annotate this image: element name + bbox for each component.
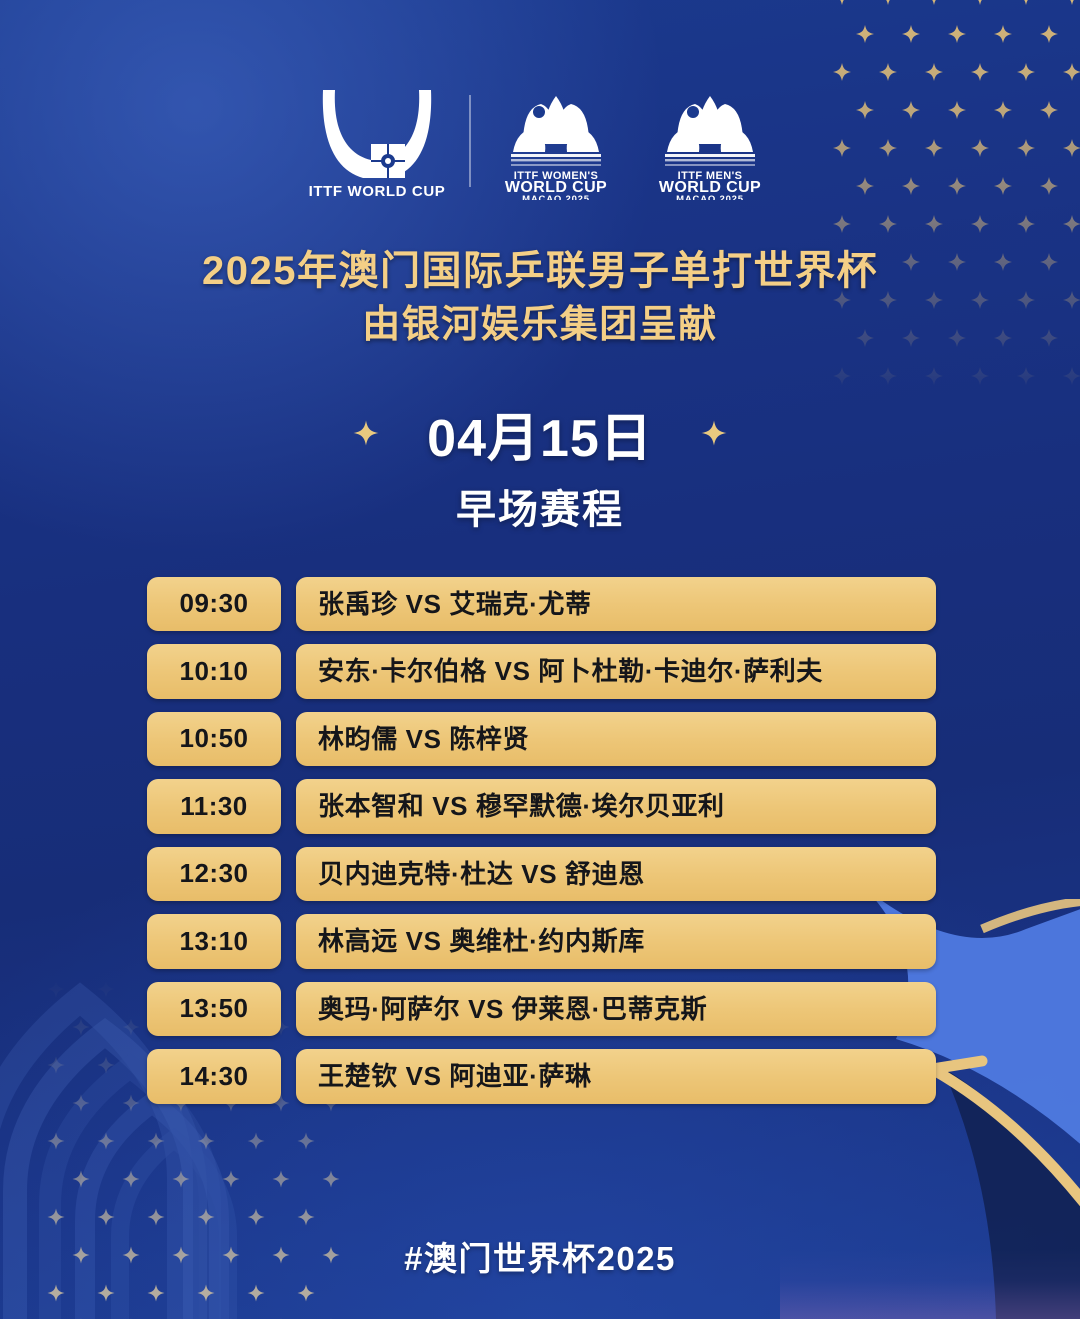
- table-row[interactable]: 13:10 林高远 VS 奥维杜·约内斯库: [147, 914, 936, 969]
- schedule-list: 09:30 张禹珍 VS 艾瑞克·尤蒂 10:10 安东·卡尔伯格 VS 阿卜杜…: [0, 577, 1080, 1104]
- ittf-mens-world-cup-logo: ITTF MEN'S WORLD CUP MACAO 2025: [649, 82, 771, 200]
- match-name: 张禹珍 VS 艾瑞克·尤蒂: [318, 588, 592, 621]
- match-time-pill: 12:30: [147, 847, 281, 902]
- table-row[interactable]: 13:50 奥玛·阿萨尔 VS 伊莱恩·巴蒂克斯: [147, 982, 936, 1037]
- match-name: 张本智和 VS 穆罕默德·埃尔贝亚利: [318, 790, 725, 823]
- match-time: 12:30: [180, 858, 249, 889]
- match-time: 10:10: [180, 656, 249, 687]
- title-line-1: 2025年澳门国际乒联男子单打世界杯: [0, 244, 1080, 299]
- match-name-pill: 贝内迪克特·杜达 VS 舒迪恩: [296, 847, 936, 902]
- poster-content: ITTF WORLD CUP ITTF WOMEN'S: [0, 0, 1080, 1280]
- match-time: 13:10: [180, 926, 249, 957]
- match-name-pill: 张本智和 VS 穆罕默德·埃尔贝亚利: [296, 779, 936, 834]
- table-row[interactable]: 10:10 安东·卡尔伯格 VS 阿卜杜勒·卡迪尔·萨利夫: [147, 644, 936, 699]
- table-row[interactable]: 14:30 王楚钦 VS 阿迪亚·萨琳: [147, 1049, 936, 1104]
- match-time-pill: 09:30: [147, 577, 281, 632]
- table-row[interactable]: 09:30 张禹珍 VS 艾瑞克·尤蒂: [147, 577, 936, 632]
- session-label: 早场赛程: [0, 477, 1080, 535]
- title-line-2: 由银河娱乐集团呈献: [0, 299, 1080, 351]
- match-time-pill: 10:50: [147, 712, 281, 767]
- page-title: 2025年澳门国际乒联男子单打世界杯 由银河娱乐集团呈献: [0, 244, 1080, 352]
- ittf-womens-world-cup-logo: ITTF WOMEN'S WORLD CUP MACAO 2025: [495, 82, 617, 200]
- four-point-star-icon: [701, 420, 727, 446]
- ittf-world-cup-logo: ITTF WORLD CUP: [309, 82, 445, 200]
- match-name: 贝内迪克特·杜达 VS 舒迪恩: [318, 858, 645, 891]
- match-name-pill: 安东·卡尔伯格 VS 阿卜杜勒·卡迪尔·萨利夫: [296, 644, 936, 699]
- four-point-star-icon: [353, 420, 379, 446]
- match-name: 安东·卡尔伯格 VS 阿卜杜勒·卡迪尔·萨利夫: [318, 655, 823, 688]
- poster-root: ITTF WORLD CUP ITTF WOMEN'S: [0, 0, 1080, 1319]
- logo-strip: ITTF WORLD CUP ITTF WOMEN'S: [0, 0, 1080, 200]
- logo-divider: [469, 95, 471, 187]
- match-name: 林昀儒 VS 陈梓贤: [318, 723, 529, 756]
- match-time: 14:30: [180, 1061, 249, 1092]
- match-time: 13:50: [180, 993, 249, 1024]
- match-name-pill: 张禹珍 VS 艾瑞克·尤蒂: [296, 577, 936, 632]
- ittf-logo-wordmark: ITTF WORLD CUP: [309, 183, 445, 200]
- match-name: 奥玛·阿萨尔 VS 伊莱恩·巴蒂克斯: [318, 993, 707, 1026]
- match-time: 09:30: [180, 588, 249, 619]
- match-name-pill: 林昀儒 VS 陈梓贤: [296, 712, 936, 767]
- match-time: 10:50: [180, 723, 249, 754]
- match-time-pill: 14:30: [147, 1049, 281, 1104]
- date-row: 04月15日: [0, 396, 1080, 471]
- match-time-pill: 13:50: [147, 982, 281, 1037]
- table-row[interactable]: 10:50 林昀儒 VS 陈梓贤: [147, 712, 936, 767]
- match-name-pill: 奥玛·阿萨尔 VS 伊莱恩·巴蒂克斯: [296, 982, 936, 1037]
- womens-logo-line3: MACAO 2025: [522, 194, 590, 200]
- match-name-pill: 林高远 VS 奥维杜·约内斯库: [296, 914, 936, 969]
- match-time: 11:30: [180, 791, 248, 822]
- match-time-pill: 11:30: [147, 779, 281, 834]
- table-row[interactable]: 12:30 贝内迪克特·杜达 VS 舒迪恩: [147, 847, 936, 902]
- date-block: 04月15日 早场赛程: [0, 396, 1080, 535]
- date-value: 04月15日: [427, 396, 653, 471]
- match-time-pill: 13:10: [147, 914, 281, 969]
- hashtag-label: #澳门世界杯2025: [0, 1232, 1080, 1280]
- mens-logo-line3: MACAO 2025: [676, 194, 744, 200]
- match-name: 王楚钦 VS 阿迪亚·萨琳: [318, 1060, 592, 1093]
- match-name-pill: 王楚钦 VS 阿迪亚·萨琳: [296, 1049, 936, 1104]
- match-time-pill: 10:10: [147, 644, 281, 699]
- match-name: 林高远 VS 奥维杜·约内斯库: [318, 925, 645, 958]
- table-row[interactable]: 11:30 张本智和 VS 穆罕默德·埃尔贝亚利: [147, 779, 936, 834]
